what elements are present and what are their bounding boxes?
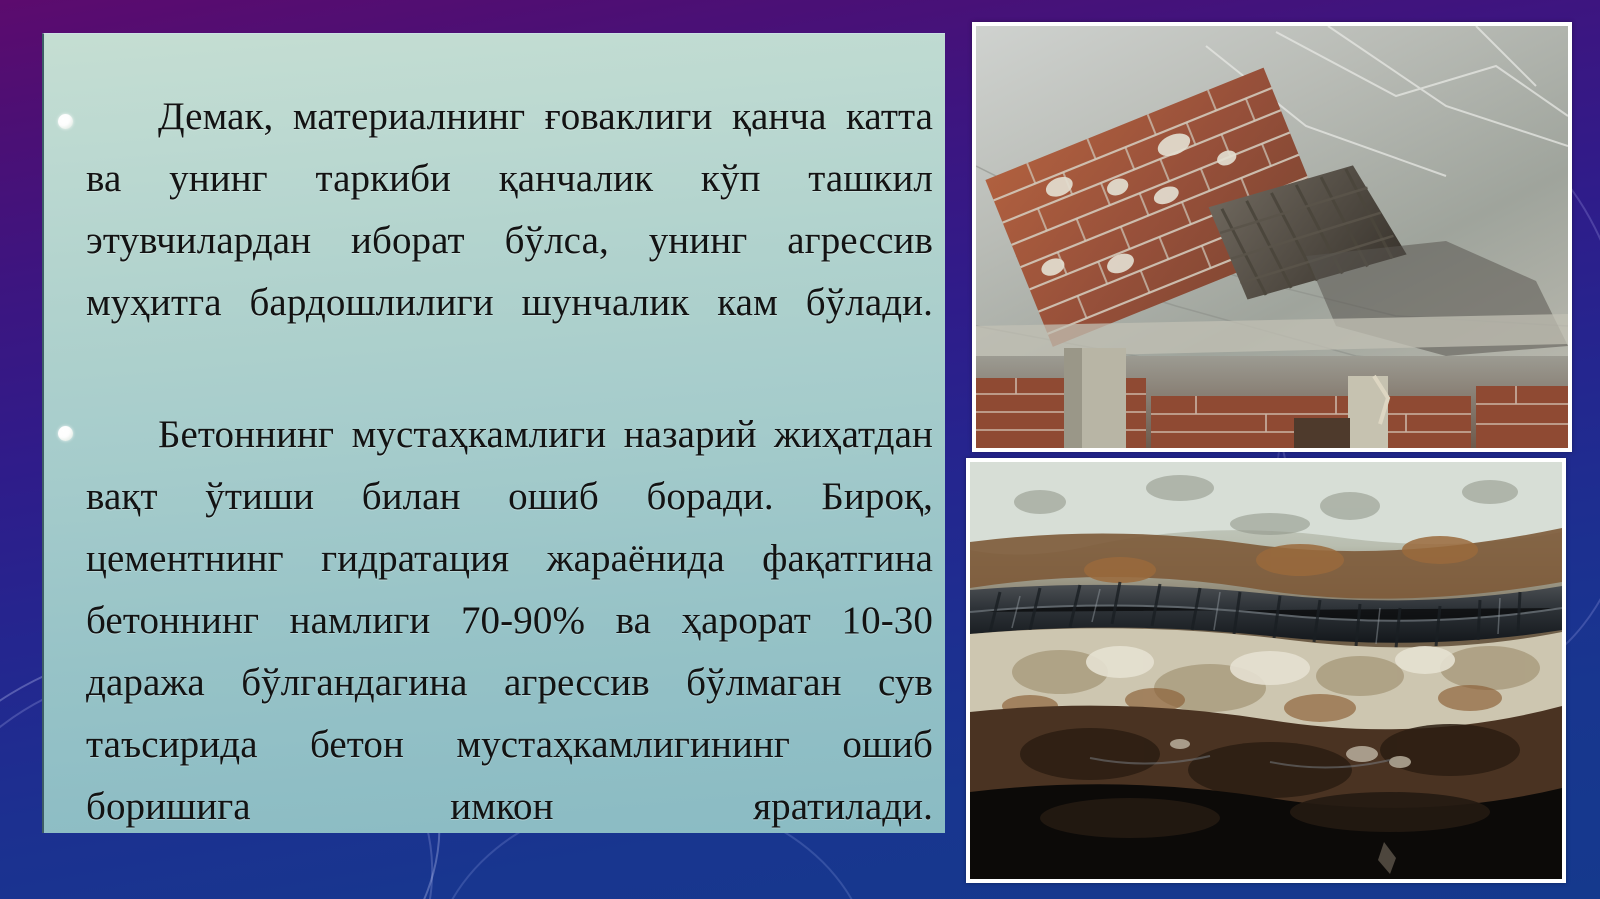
bullet-marker-cell [44, 86, 86, 129]
paragraph-body-1: Демак, материалнинг ғоваклиги қанча катт… [86, 95, 933, 324]
bullet-paragraph: Бетоннинг мустаҳкамлиги назарий жиҳатдан… [44, 396, 945, 899]
corroded-rebar-image [970, 462, 1562, 879]
paragraph-body-2: Бетоннинг мустаҳкамлиги назарий жиҳатдан… [86, 413, 933, 828]
bullet-paragraph: Демак, материалнинг ғоваклиги қанча катт… [44, 34, 945, 396]
bullet-dot-icon [58, 426, 73, 441]
paragraph-text-1: Демак, материалнинг ғоваклиги қанча катт… [86, 86, 945, 396]
paragraph-text-2: Бетоннинг мустаҳкамлиги назарий жиҳатдан… [86, 404, 945, 899]
corroded-rebar-concrete-photo [966, 458, 1566, 883]
damaged-concrete-ceiling-image [976, 26, 1568, 448]
presentation-slide: Демак, материалнинг ғоваклиги қанча катт… [0, 0, 1600, 899]
bullet-marker-cell [44, 404, 86, 441]
bullet-dot-icon [58, 114, 73, 129]
damaged-concrete-ceiling-photo [972, 22, 1572, 452]
content-text-panel: Демак, материалнинг ғоваклиги қанча катт… [42, 33, 945, 833]
